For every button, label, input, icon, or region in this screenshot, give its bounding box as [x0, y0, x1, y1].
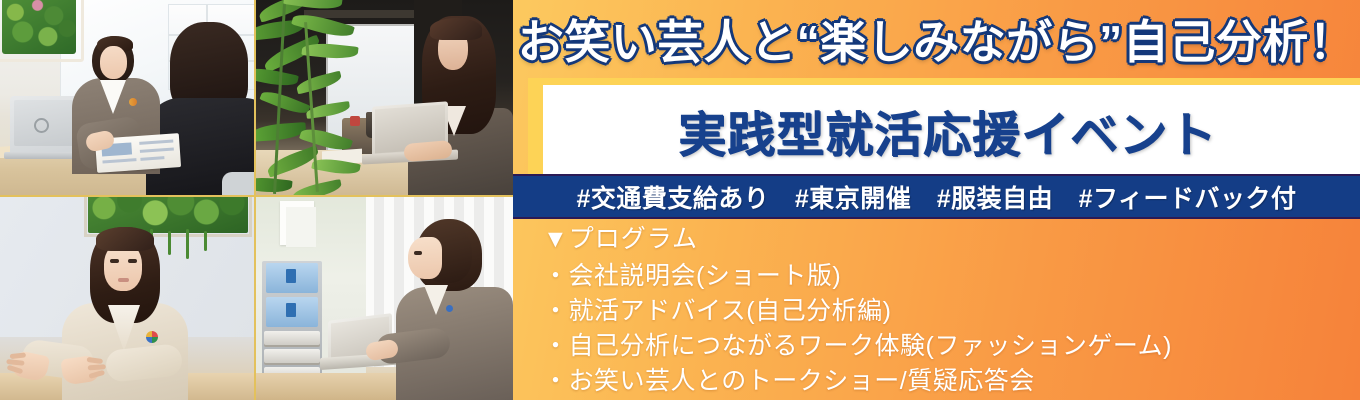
program-section: ▼プログラム 会社説明会(ショート版) 就活アドバイス(自己分析編) 自己分析に…	[543, 224, 1350, 399]
banner-subtitle: 実践型就活応援イベント	[678, 95, 1217, 165]
subtitle-band: 実践型就活応援イベント	[528, 78, 1360, 174]
plant-foreground	[256, 0, 390, 197]
text-panel: お笑い芸人と“楽しみながら”自己分析！ 実践型就活応援イベント #交通費支給あり…	[513, 0, 1360, 400]
banner-headline: お笑い芸人と“楽しみながら”自己分析！	[513, 3, 1360, 75]
photo-interview-two-women	[0, 0, 256, 197]
program-item: 自己分析につながるワーク体験(ファッションゲーム)	[543, 329, 1350, 364]
photo-grid	[0, 0, 513, 400]
hashtag-bar: #交通費支給あり #東京開催 #服装自由 #フィードバック付	[513, 174, 1360, 219]
program-item-list: 会社説明会(ショート版) 就活アドバイス(自己分析編) 自己分析につながるワーク…	[543, 259, 1350, 399]
program-item: 会社説明会(ショート版)	[543, 259, 1350, 294]
program-heading: ▼プログラム	[543, 224, 1350, 255]
event-banner: お笑い芸人と“楽しみながら”自己分析！ 実践型就活応援イベント #交通費支給あり…	[0, 0, 1360, 400]
photo-woman-desk-profile	[256, 197, 513, 400]
photo-woman-gesturing	[0, 197, 256, 400]
program-item: お笑い芸人とのトークショー/質疑応答会	[543, 364, 1350, 399]
photo-woman-typing-plant	[256, 0, 513, 197]
hashtag-list: #交通費支給あり #東京開催 #服装自由 #フィードバック付	[576, 179, 1296, 215]
program-item: 就活アドバイス(自己分析編)	[543, 294, 1350, 329]
